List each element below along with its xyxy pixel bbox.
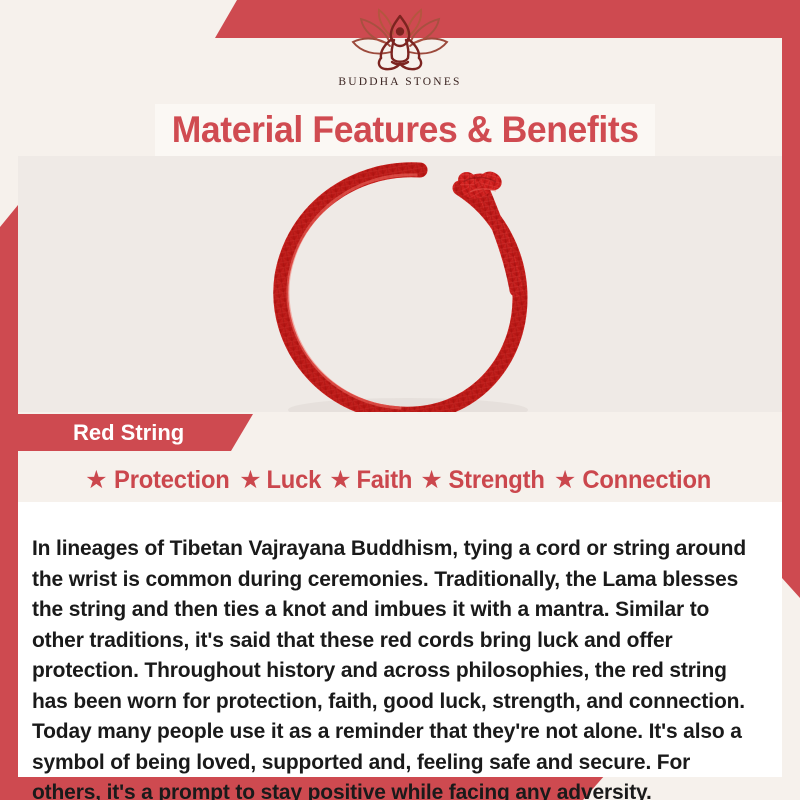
benefit-item-faith: ★ Faith	[329, 466, 413, 495]
material-label-banner: Red String	[18, 414, 253, 451]
benefit-label: Protection	[114, 466, 230, 495]
benefit-item-luck: ★ Luck	[239, 466, 322, 495]
benefit-label: Luck	[266, 466, 321, 495]
page-title: Material Features & Benefits	[172, 109, 639, 151]
logo-lockup: BUDDHA STONES	[335, 8, 465, 88]
benefit-item-strength: ★ Strength	[420, 466, 547, 495]
star-icon: ★	[554, 468, 576, 493]
description-text: In lineages of Tibetan Vajrayana Buddhis…	[32, 533, 747, 800]
star-icon: ★	[420, 468, 442, 493]
benefit-label: Strength	[448, 466, 544, 495]
title-band: Material Features & Benefits	[155, 104, 655, 156]
material-label-text: Red String	[18, 420, 184, 446]
product-photo	[18, 156, 782, 412]
infographic-page: BUDDHA STONES Material Features & Benefi…	[0, 0, 800, 800]
description-panel: In lineages of Tibetan Vajrayana Buddhis…	[18, 502, 782, 777]
lotus-meditation-figure-icon	[335, 8, 465, 74]
brand-header: BUDDHA STONES	[0, 0, 800, 104]
benefit-label: Connection	[583, 466, 712, 495]
brand-name: BUDDHA STONES	[338, 76, 461, 88]
benefit-label: Faith	[356, 466, 412, 495]
decor-left-vertical-band	[0, 205, 18, 795]
benefit-item-connection: ★ Connection	[554, 466, 715, 495]
benefit-item-protection: ★ Protection	[85, 466, 232, 495]
star-icon: ★	[85, 468, 107, 493]
red-braided-bracelet-image	[248, 156, 598, 412]
benefits-row: ★ Protection ★ Luck ★ Faith ★ Strength ★…	[18, 458, 782, 502]
decor-right-vertical-band	[782, 38, 800, 598]
star-icon: ★	[239, 468, 261, 493]
star-icon: ★	[329, 468, 351, 493]
